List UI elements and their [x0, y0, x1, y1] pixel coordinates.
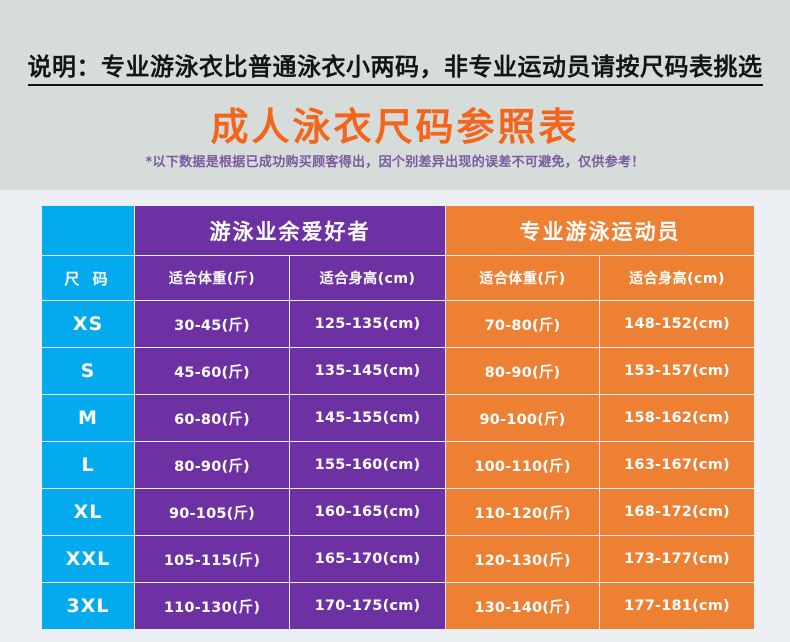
size-chart-page: 说明：专业游泳衣比普通泳衣小两码，非专业运动员请按尺码表挑选 成人泳衣尺码参照表…	[0, 0, 790, 642]
cell-amateur-height: 170-175(cm)	[290, 583, 445, 629]
cell-pro-height: 153-157(cm)	[600, 348, 754, 394]
cell-amateur-weight: 80-90(斤)	[135, 442, 289, 488]
cell-amateur-weight: 45-60(斤)	[135, 348, 289, 394]
cell-pro-weight: 120-130(斤)	[446, 536, 599, 582]
cell-amateur-height: 155-160(cm)	[290, 442, 445, 488]
table-row: L80-90(斤)155-160(cm)100-110(斤)163-167(cm…	[42, 442, 754, 488]
table-row: M60-80(斤)145-155(cm)90-100(斤)158-162(cm)	[42, 395, 754, 441]
cell-amateur-weight: 90-105(斤)	[135, 489, 289, 535]
cell-pro-weight: 80-90(斤)	[446, 348, 599, 394]
table-row: XS30-45(斤)125-135(cm)70-80(斤)148-152(cm)	[42, 301, 754, 347]
column-header-amateur-height: 适合身高(cm)	[290, 256, 445, 300]
cell-size: 3XL	[42, 583, 134, 629]
disclaimer-text: *以下数据是根据已成功购买顾客得出，因个别差异出现的误差不可避免，仅供参考！	[0, 151, 790, 170]
table-body: 游泳业余爱好者专业游泳运动员尺 码适合体重(斤)适合身高(cm)适合体重(斤)适…	[42, 206, 754, 629]
cell-size: XL	[42, 489, 134, 535]
cell-amateur-weight: 60-80(斤)	[135, 395, 289, 441]
cell-size: S	[42, 348, 134, 394]
cell-pro-height: 168-172(cm)	[600, 489, 754, 535]
cell-pro-weight: 100-110(斤)	[446, 442, 599, 488]
column-header-row: 尺 码适合体重(斤)适合身高(cm)适合体重(斤)适合身高(cm)	[42, 256, 754, 300]
notice-text: 说明：专业游泳衣比普通泳衣小两码，非专业运动员请按尺码表挑选	[0, 47, 790, 82]
group-header-amateur: 游泳业余爱好者	[135, 206, 445, 255]
page-title: 成人泳衣尺码参照表	[0, 96, 790, 151]
cell-amateur-weight: 30-45(斤)	[135, 301, 289, 347]
cell-size: L	[42, 442, 134, 488]
cell-pro-height: 173-177(cm)	[600, 536, 754, 582]
cell-pro-height: 177-181(cm)	[600, 583, 754, 629]
notice-underlined: 说明：专业游泳衣比普通泳衣小两码，非专业运动员请按尺码表挑选	[28, 53, 763, 86]
table-row: S45-60(斤)135-145(cm)80-90(斤)153-157(cm)	[42, 348, 754, 394]
column-header-amateur-weight: 适合体重(斤)	[135, 256, 289, 300]
cell-amateur-height: 145-155(cm)	[290, 395, 445, 441]
group-header-professional: 专业游泳运动员	[446, 206, 754, 255]
cell-pro-height: 148-152(cm)	[600, 301, 754, 347]
table-row: XL90-105(斤)160-165(cm)110-120(斤)168-172(…	[42, 489, 754, 535]
cell-amateur-weight: 110-130(斤)	[135, 583, 289, 629]
cell-amateur-height: 165-170(cm)	[290, 536, 445, 582]
table-row: XXL105-115(斤)165-170(cm)120-130(斤)173-17…	[42, 536, 754, 582]
group-header-blank	[42, 206, 134, 255]
column-header-pro-weight: 适合体重(斤)	[446, 256, 599, 300]
column-header-pro-height: 适合身高(cm)	[600, 256, 754, 300]
cell-pro-height: 158-162(cm)	[600, 395, 754, 441]
group-header-row: 游泳业余爱好者专业游泳运动员	[42, 206, 754, 255]
size-chart-table: 游泳业余爱好者专业游泳运动员尺 码适合体重(斤)适合身高(cm)适合体重(斤)适…	[41, 205, 755, 630]
table-row: 3XL110-130(斤)170-175(cm)130-140(斤)177-18…	[42, 583, 754, 629]
cell-pro-weight: 110-120(斤)	[446, 489, 599, 535]
cell-pro-height: 163-167(cm)	[600, 442, 754, 488]
cell-amateur-height: 125-135(cm)	[290, 301, 445, 347]
cell-amateur-height: 160-165(cm)	[290, 489, 445, 535]
cell-pro-weight: 90-100(斤)	[446, 395, 599, 441]
cell-pro-weight: 70-80(斤)	[446, 301, 599, 347]
cell-pro-weight: 130-140(斤)	[446, 583, 599, 629]
cell-amateur-height: 135-145(cm)	[290, 348, 445, 394]
cell-size: XXL	[42, 536, 134, 582]
column-header-size: 尺 码	[42, 256, 134, 300]
cell-size: XS	[42, 301, 134, 347]
cell-size: M	[42, 395, 134, 441]
cell-amateur-weight: 105-115(斤)	[135, 536, 289, 582]
